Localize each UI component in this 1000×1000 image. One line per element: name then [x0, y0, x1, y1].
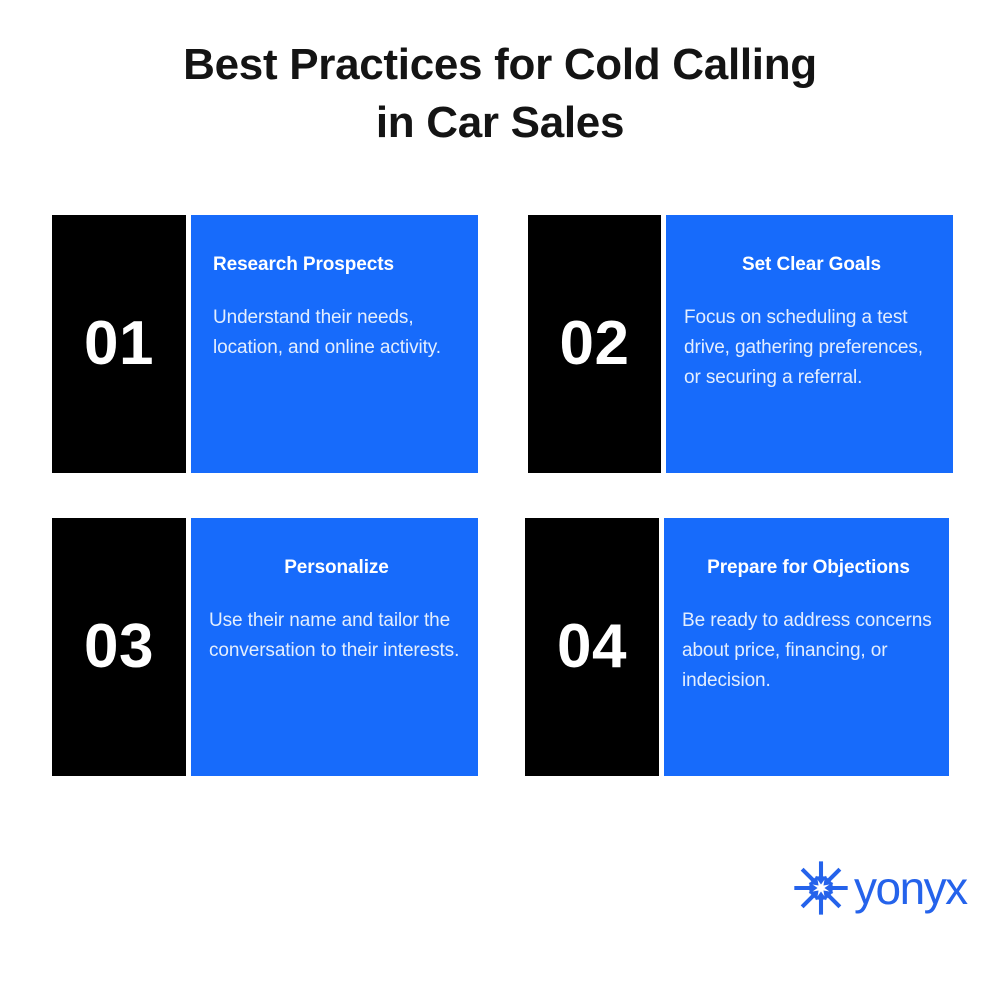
practice-card-04-heading: Prepare for Objections [682, 556, 935, 580]
practice-card-04-content: Prepare for Objections Be ready to addre… [664, 518, 949, 776]
practice-card-03-content: Personalize Use their name and tailor th… [191, 518, 478, 776]
practice-card-01: 01 Research Prospects Understand their n… [52, 215, 478, 473]
page-title: Best Practices for Cold Calling in Car S… [0, 36, 1000, 152]
starburst-arrows-icon [792, 859, 850, 917]
practice-card-03: 03 Personalize Use their name and tailor… [52, 518, 478, 776]
practice-card-02: 02 Set Clear Goals Focus on scheduling a… [528, 215, 953, 473]
practice-card-01-number-panel: 01 [52, 215, 186, 473]
brand-wordmark: yonyx [854, 865, 967, 911]
practice-card-04: 04 Prepare for Objections Be ready to ad… [525, 518, 949, 776]
practice-card-04-body: Be ready to address concerns about price… [682, 606, 935, 696]
infographic-poster: Best Practices for Cold Calling in Car S… [0, 0, 1000, 1000]
practice-card-03-body: Use their name and tailor the conversati… [209, 606, 464, 666]
practice-card-02-number-panel: 02 [528, 215, 661, 473]
practice-card-03-number: 03 [84, 616, 154, 678]
practice-card-02-heading: Set Clear Goals [684, 253, 939, 277]
practice-card-02-number: 02 [560, 313, 630, 375]
brand-logo: yonyx [792, 857, 1000, 919]
page-title-line-2: in Car Sales [0, 94, 1000, 152]
practice-card-01-content: Research Prospects Understand their need… [191, 215, 478, 473]
practice-card-02-content: Set Clear Goals Focus on scheduling a te… [666, 215, 953, 473]
practice-card-02-body: Focus on scheduling a test drive, gather… [684, 303, 939, 393]
practices-grid: 01 Research Prospects Understand their n… [52, 215, 953, 776]
practice-card-03-number-panel: 03 [52, 518, 186, 776]
page-title-line-1: Best Practices for Cold Calling [0, 36, 1000, 94]
practice-card-01-heading: Research Prospects [213, 253, 456, 277]
practice-card-01-number: 01 [84, 313, 154, 375]
practice-card-03-heading: Personalize [209, 556, 464, 580]
practice-card-04-number: 04 [557, 616, 627, 678]
practice-card-04-number-panel: 04 [525, 518, 659, 776]
practice-card-01-body: Understand their needs, location, and on… [213, 303, 456, 363]
